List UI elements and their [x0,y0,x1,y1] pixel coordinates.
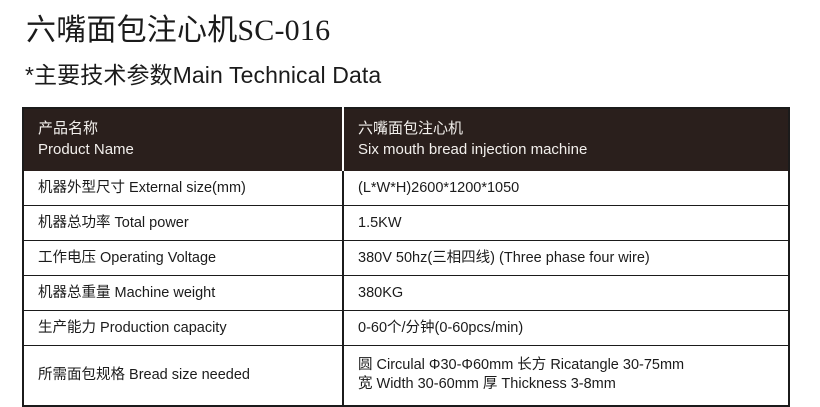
header-label-cn: 产品名称 [38,120,98,137]
technical-data-table: 产品名称 Product Name 六嘴面包注心机 Six mouth brea… [22,107,790,407]
page-subtitle: *主要技术参数Main Technical Data [25,61,381,89]
row-label-external-size: 机器外型尺寸 External size(mm) [23,171,343,206]
table-header-row: 产品名称 Product Name 六嘴面包注心机 Six mouth brea… [23,108,789,171]
header-cell-value: 六嘴面包注心机 Six mouth bread injection machin… [343,108,789,171]
spec-sheet-page: 六嘴面包注心机SC-016 *主要技术参数Main Technical Data… [0,0,820,403]
row-value-production-capacity: 0-60个/分钟(0-60pcs/min) [343,311,789,346]
row-label-machine-weight: 机器总重量 Machine weight [23,276,343,311]
table-row: 机器外型尺寸 External size(mm) (L*W*H)2600*120… [23,171,789,206]
table-row: 工作电压 Operating Voltage 380V 50hz(三相四线) (… [23,241,789,276]
table-row: 生产能力 Production capacity 0-60个/分钟(0-60pc… [23,311,789,346]
header-cell-label: 产品名称 Product Name [23,108,343,171]
row-value-bread-size: 圆 Circulal Φ30-Φ60mm 长方 Ricatangle 30-75… [343,346,789,407]
row-value-machine-weight: 380KG [343,276,789,311]
row-label-production-capacity: 生产能力 Production capacity [23,311,343,346]
bread-size-line-1: 圆 Circulal Φ30-Φ60mm 长方 Ricatangle 30-75… [358,357,684,373]
table-row: 机器总重量 Machine weight 380KG [23,276,789,311]
header-value-cn: 六嘴面包注心机 [358,120,463,137]
page-title: 六嘴面包注心机SC-016 [26,14,330,48]
table-row: 机器总功率 Total power 1.5KW [23,206,789,241]
header-label-en: Product Name [38,139,328,160]
header-value-en: Six mouth bread injection machine [358,139,774,160]
row-label-bread-size: 所需面包规格 Bread size needed [23,346,343,407]
row-value-external-size: (L*W*H)2600*1200*1050 [343,171,789,206]
row-label-total-power: 机器总功率 Total power [23,206,343,241]
row-label-operating-voltage: 工作电压 Operating Voltage [23,241,343,276]
bread-size-line-2: 宽 Width 30-60mm 厚 Thickness 3-8mm [358,375,774,394]
table-row: 所需面包规格 Bread size needed 圆 Circulal Φ30-… [23,346,789,407]
row-value-operating-voltage: 380V 50hz(三相四线) (Three phase four wire) [343,241,789,276]
row-value-total-power: 1.5KW [343,206,789,241]
